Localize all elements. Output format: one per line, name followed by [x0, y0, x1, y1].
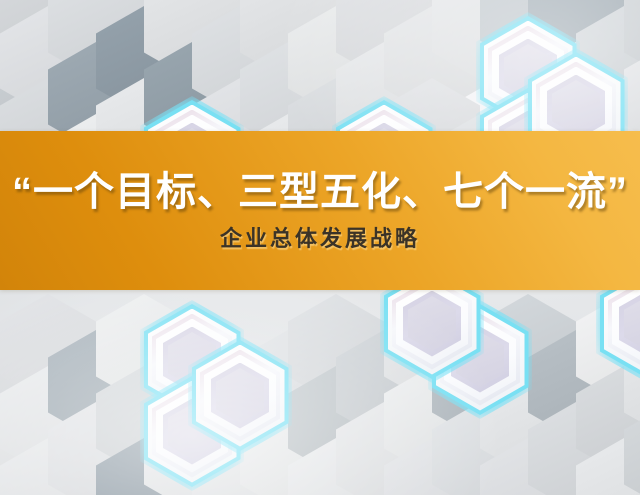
- title-banner: “一个目标、三型五化、七个一流” 企业总体发展战略: [0, 131, 640, 290]
- title-slide: “一个目标、三型五化、七个一流” 企业总体发展战略: [0, 0, 640, 495]
- page-subtitle: 企业总体发展战略: [220, 228, 420, 250]
- page-title: “一个目标、三型五化、七个一流”: [12, 172, 628, 212]
- glowing-accent-hexagon: [188, 336, 292, 455]
